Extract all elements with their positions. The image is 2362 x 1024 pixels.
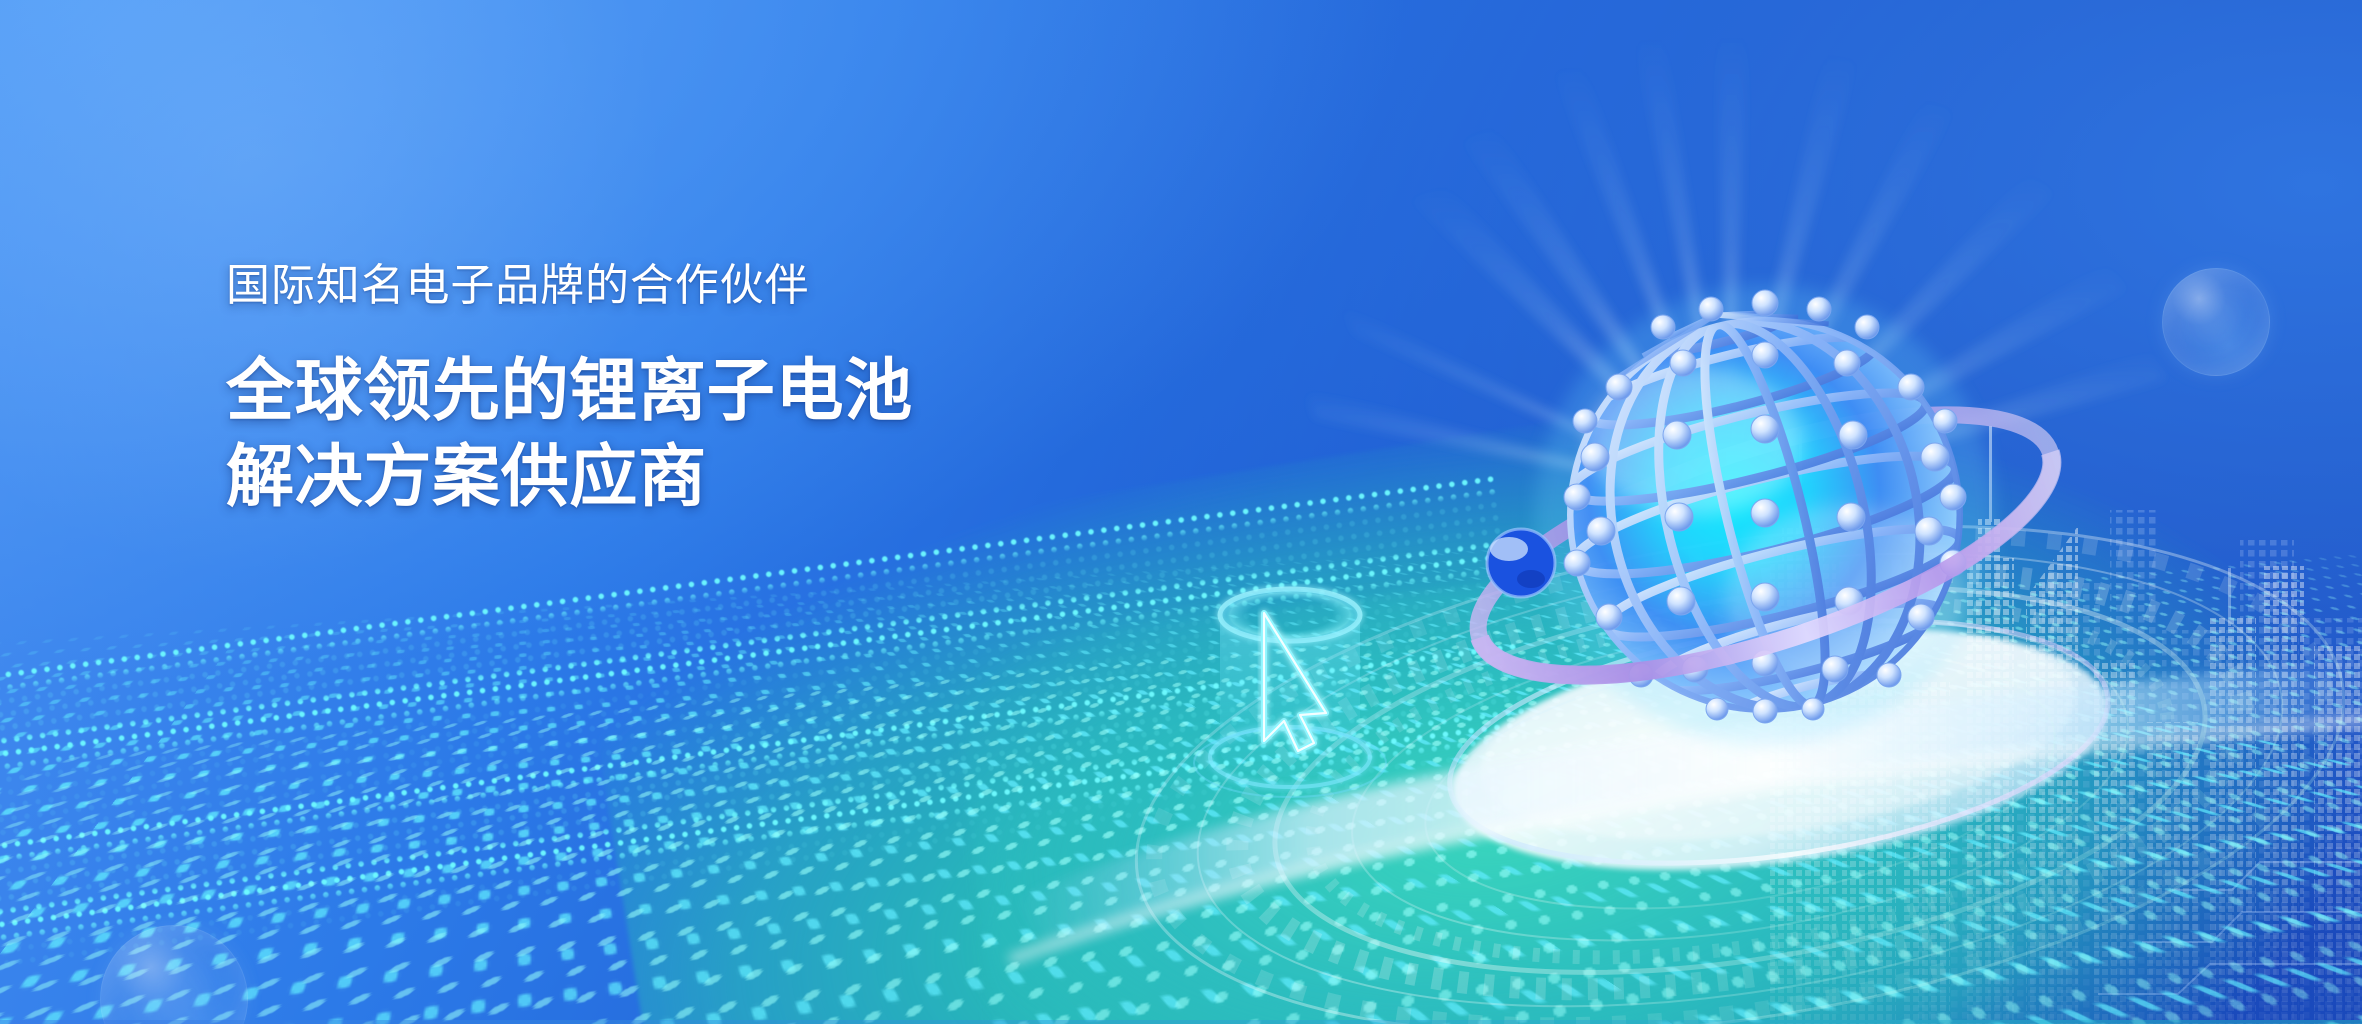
headline-line-1: 全球领先的锂离子电池: [226, 349, 913, 435]
glass-bubble-top-right: [2162, 268, 2270, 376]
headline-line-2: 解决方案供应商: [226, 435, 913, 521]
hero-banner: 国际知名电子品牌的合作伙伴 全球领先的锂离子电池 解决方案供应商: [0, 0, 2362, 1024]
eyebrow-text: 国际知名电子品牌的合作伙伴: [226, 258, 913, 313]
wireframe-globe: [1395, 245, 2135, 785]
hero-copy-block: 国际知名电子品牌的合作伙伴 全球领先的锂离子电池 解决方案供应商: [226, 258, 913, 520]
bottom-edge-accent: [0, 1020, 2362, 1024]
page-title: 全球领先的锂离子电池 解决方案供应商: [226, 349, 913, 520]
orbit-bead-sphere: [1487, 529, 1555, 597]
cursor-light-beam: [1180, 575, 1430, 815]
